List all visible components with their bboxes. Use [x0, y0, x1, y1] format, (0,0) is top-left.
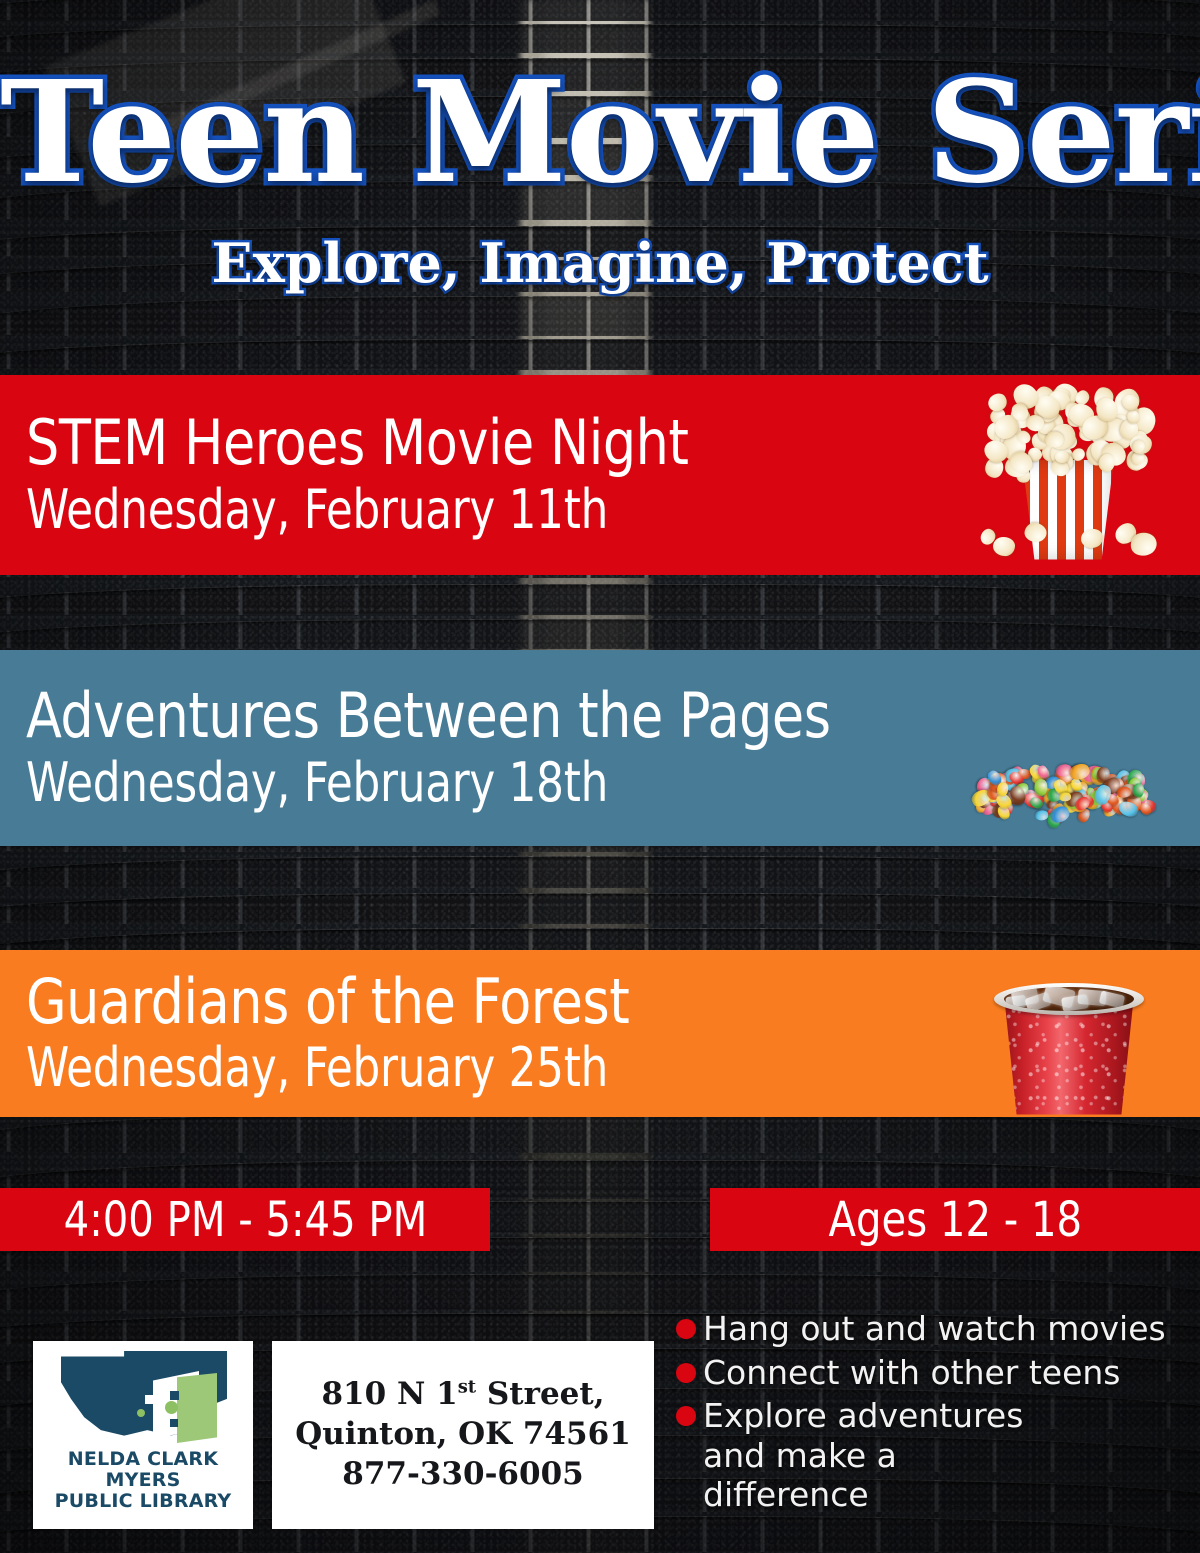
event-date: Wednesday, February 11th — [26, 480, 879, 539]
list-item-label: Explore adventures and make a difference — [703, 1396, 1063, 1515]
candy-piece — [1035, 809, 1049, 820]
logo-line-1: NELDA CLARK — [68, 1449, 218, 1470]
popcorn-bucket-image — [974, 388, 1164, 563]
event-title: Adventures Between the Pages — [26, 684, 904, 748]
address-line-city: Quinton, OK 74561 — [295, 1415, 631, 1455]
address-line-phone: 877-330-6005 — [342, 1455, 583, 1495]
bullet-dot-icon — [676, 1406, 696, 1426]
list-item: Connect with other teens — [676, 1353, 1186, 1393]
popcorn-kernel — [1054, 450, 1069, 463]
ages-badge: Ages 12 - 18 — [710, 1188, 1200, 1251]
page-subtitle: Explore, Imagine, Protect — [0, 231, 1200, 295]
address-line-street: 810 N 1st Street, — [321, 1375, 604, 1415]
time-badge: 4:00 PM - 5:45 PM — [0, 1188, 490, 1251]
ice-cube — [1005, 994, 1026, 1008]
list-item-label: Connect with other teens — [703, 1353, 1121, 1393]
pixel-dot-green-2 — [165, 1401, 178, 1414]
logo-line-3: PUBLIC LIBRARY — [55, 1491, 232, 1512]
event-band-stem-heroes: STEM Heroes Movie Night Wednesday, Febru… — [0, 375, 1200, 575]
event-title: Guardians of the Forest — [26, 970, 927, 1034]
title-block: Teen Movie Series Explore, Imagine, Prot… — [0, 62, 1200, 295]
bullet-dot-icon — [676, 1363, 696, 1383]
time-text: 4:00 PM - 5:45 PM — [63, 1192, 427, 1248]
pixel-square-3 — [153, 1413, 164, 1424]
cup-liquid-ice — [1004, 987, 1134, 1011]
address-card: 810 N 1st Street, Quinton, OK 74561 877-… — [272, 1341, 654, 1529]
book-page-green — [177, 1373, 217, 1443]
event-band-guardians: Guardians of the Forest Wednesday, Febru… — [0, 950, 1200, 1117]
pixel-square-1 — [145, 1395, 154, 1404]
address-ordinal-suffix: st — [458, 1377, 476, 1398]
event-title: STEM Heroes Movie Night — [26, 411, 917, 475]
popcorn-kernel — [993, 536, 1016, 556]
page-title: Teen Movie Series — [0, 62, 1200, 205]
pixel-square-dark-2 — [170, 1419, 178, 1427]
list-item: Hang out and watch movies — [676, 1309, 1186, 1349]
popcorn-kernel — [985, 390, 1010, 415]
event-date: Wednesday, February 25th — [26, 1038, 888, 1097]
library-logo-card: NELDA CLARK MYERS PUBLIC LIBRARY — [33, 1341, 253, 1529]
logo-line-2: MYERS — [106, 1470, 181, 1491]
event-band-adventures: Adventures Between the Pages Wednesday, … — [0, 650, 1200, 846]
ages-text: Ages 12 - 18 — [828, 1192, 1082, 1248]
poster: Teen Movie Series Explore, Imagine, Prot… — [0, 0, 1200, 1553]
pixel-dot-green-1 — [137, 1409, 145, 1417]
soda-cup-image — [984, 953, 1154, 1115]
event-date: Wednesday, February 18th — [26, 753, 867, 812]
list-item: Explore adventures and make a difference — [676, 1396, 1186, 1515]
pixel-square-2 — [159, 1387, 166, 1394]
list-item-label: Hang out and watch movies — [703, 1309, 1166, 1349]
address-street-pre: 810 N 1 — [321, 1376, 457, 1412]
oklahoma-state-book-icon — [53, 1349, 233, 1447]
popcorn-kernel — [1046, 432, 1064, 448]
address-street-post: Street, — [476, 1376, 604, 1412]
benefits-list: Hang out and watch movies Connect with o… — [676, 1309, 1186, 1519]
popcorn-kernels — [974, 388, 1164, 488]
candy-pieces-image — [960, 742, 1156, 828]
pixel-square-dark-1 — [170, 1391, 179, 1400]
bullet-dot-icon — [676, 1319, 696, 1339]
